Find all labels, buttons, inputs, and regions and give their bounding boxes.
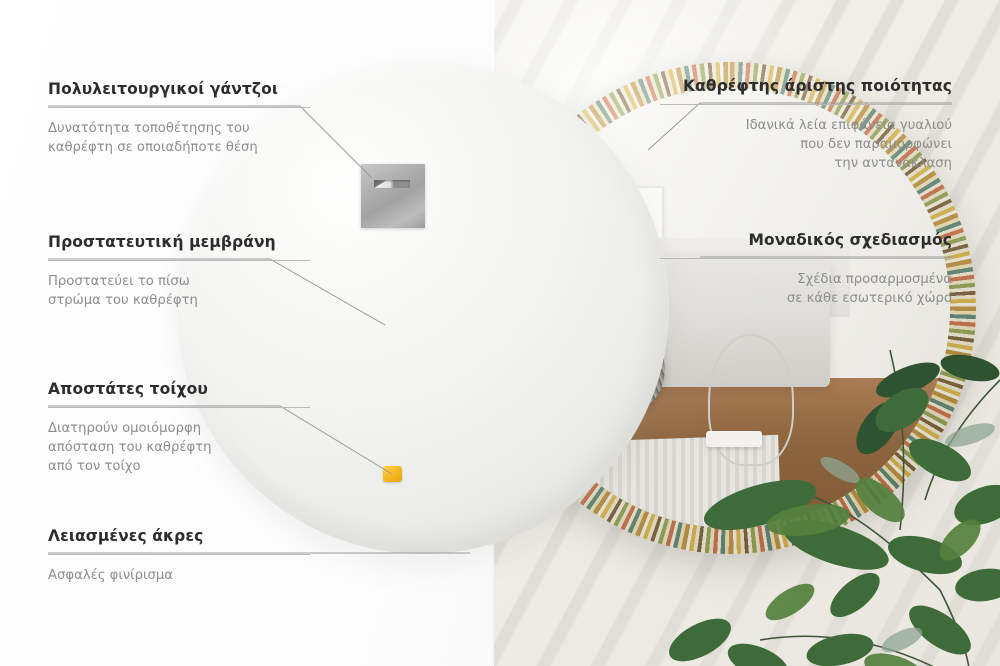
callout-wall-spacers: Αποστάτες τοίχου Διατηρούν ομοιόμορφη απ…	[48, 380, 310, 476]
callout-description: Ιδανικά λεία επιφάνεια γυαλιού που δεν π…	[660, 116, 952, 173]
plant-foliage	[640, 340, 1000, 666]
callout-title: Πολυλειτουργικοί γάντζοι	[48, 80, 310, 98]
wall-spacer	[383, 466, 402, 482]
callout-rule	[660, 258, 952, 259]
callout-unique-design: Μοναδικός σχεδιασμός Σχέδια προσαρμοσμέν…	[660, 231, 952, 308]
callout-rule	[48, 107, 310, 108]
callout-description: Σχέδια προσαρμοσμένα σε κάθε εσωτερικό χ…	[660, 270, 952, 308]
wall-hook-plate	[361, 164, 425, 228]
hook-slot-icon	[374, 180, 410, 188]
callout-protective-membrane: Προστατευτική μεμβράνη Προστατεύει το πί…	[48, 233, 310, 310]
callout-description: Ασφαλές φινίρισμα	[48, 566, 310, 585]
product-infographic: Πολυλειτουργικοί γάντζοι Δυνατότητα τοπο…	[0, 0, 1000, 666]
callout-description: Διατηρούν ομοιόμορφη απόσταση του καθρέφ…	[48, 419, 310, 476]
callout-rule	[48, 554, 310, 555]
callout-title: Καθρέφτης άριστης ποιότητας	[660, 77, 952, 95]
callout-title: Αποστάτες τοίχου	[48, 380, 310, 398]
callout-multifunctional-hooks: Πολυλειτουργικοί γάντζοι Δυνατότητα τοπο…	[48, 80, 310, 157]
callout-rule	[48, 260, 310, 261]
callout-title: Μοναδικός σχεδιασμός	[660, 231, 952, 249]
callout-description: Δυνατότητα τοποθέτησης του καθρέφτη σε ο…	[48, 119, 310, 157]
callout-rule	[660, 104, 952, 105]
callout-title: Λειασμένες άκρες	[48, 527, 310, 545]
callout-title: Προστατευτική μεμβράνη	[48, 233, 310, 251]
callout-rule	[48, 407, 310, 408]
callout-top-quality-mirror: Καθρέφτης άριστης ποιότητας Ιδανικά λεία…	[660, 77, 952, 173]
callout-smoothed-edges: Λειασμένες άκρες Ασφαλές φινίρισμα	[48, 527, 310, 585]
callout-description: Προστατεύει το πίσω στρώμα του καθρέφτη	[48, 272, 310, 310]
